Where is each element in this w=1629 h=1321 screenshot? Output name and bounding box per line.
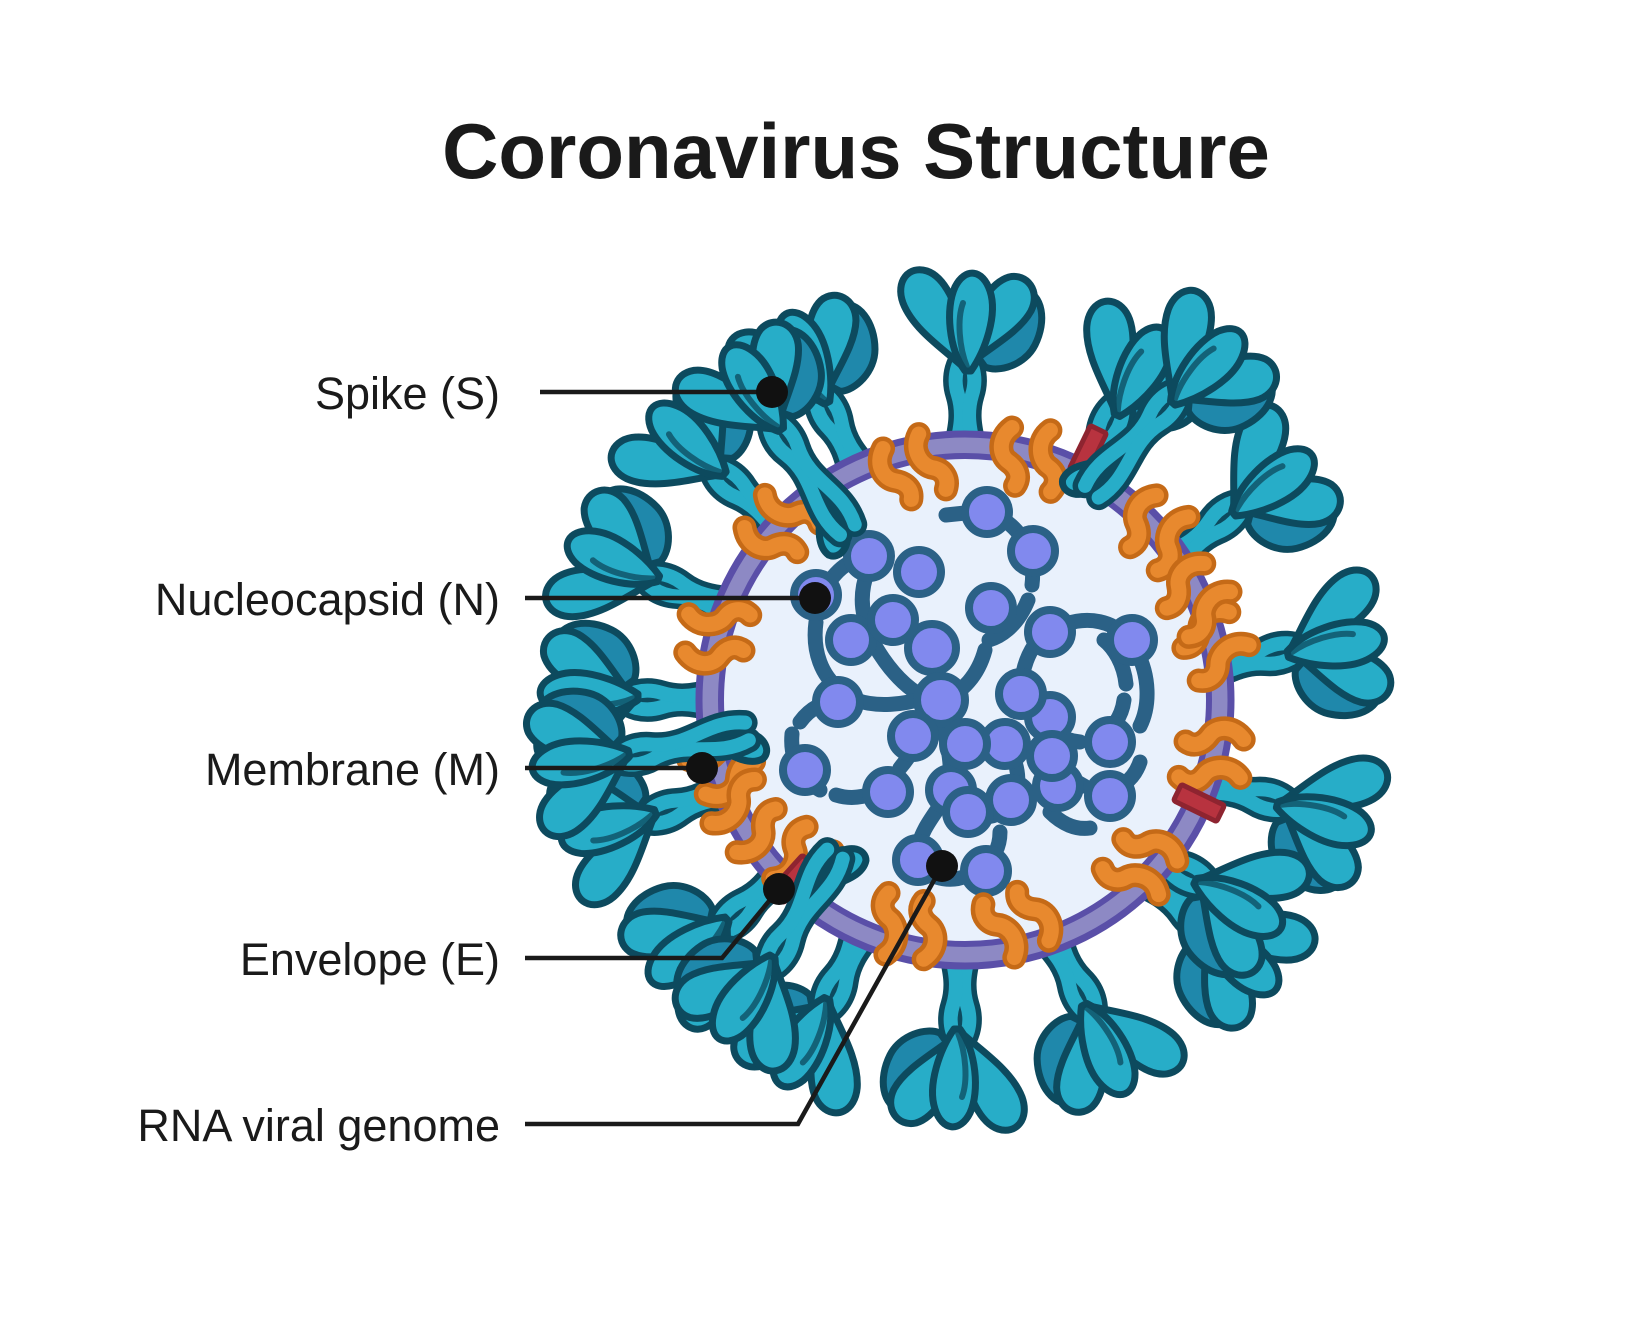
- n-protein-bead: [965, 490, 1009, 534]
- n-protein-bead: [783, 748, 827, 792]
- n-protein-bead: [897, 550, 941, 594]
- n-protein-bead: [946, 790, 990, 834]
- n-protein-bead: [829, 618, 873, 662]
- n-protein-bead: [989, 778, 1033, 822]
- n-protein-bead: [847, 534, 891, 578]
- anchor-dot-envelope: [763, 873, 795, 905]
- n-protein-bead: [1030, 734, 1074, 778]
- coronavirus-diagram-canvas: Coronavirus Structure: [0, 0, 1629, 1321]
- page-title: Coronavirus Structure: [442, 107, 1270, 195]
- anchor-dot-nucleocapsid: [799, 582, 831, 614]
- n-protein-bead: [1011, 529, 1055, 573]
- n-protein-bead: [816, 680, 860, 724]
- label-membrane: Membrane (M): [205, 744, 500, 795]
- label-spike: Spike (S): [315, 368, 500, 419]
- label-rna-viral-genome: RNA viral genome: [137, 1100, 500, 1151]
- virion-illustration: [515, 270, 1403, 1131]
- n-protein-bead: [969, 586, 1013, 630]
- n-protein-bead: [999, 672, 1043, 716]
- anchor-dot-membrane: [686, 752, 718, 784]
- n-protein-bead: [1088, 774, 1132, 818]
- n-protein-bead: [943, 722, 987, 766]
- label-envelope: Envelope (E): [240, 934, 500, 985]
- label-nucleocapsid: Nucleocapsid (N): [155, 574, 500, 625]
- anchor-dot-spike: [756, 376, 788, 408]
- anchor-dot-rna: [926, 850, 958, 882]
- n-protein-bead: [866, 770, 910, 814]
- n-protein-bead: [964, 849, 1008, 893]
- n-protein-bead: [1110, 618, 1154, 662]
- n-protein-bead: [1028, 610, 1072, 654]
- n-protein-bead: [1088, 720, 1132, 764]
- n-protein-bead: [871, 598, 915, 642]
- n-protein-bead: [891, 714, 935, 758]
